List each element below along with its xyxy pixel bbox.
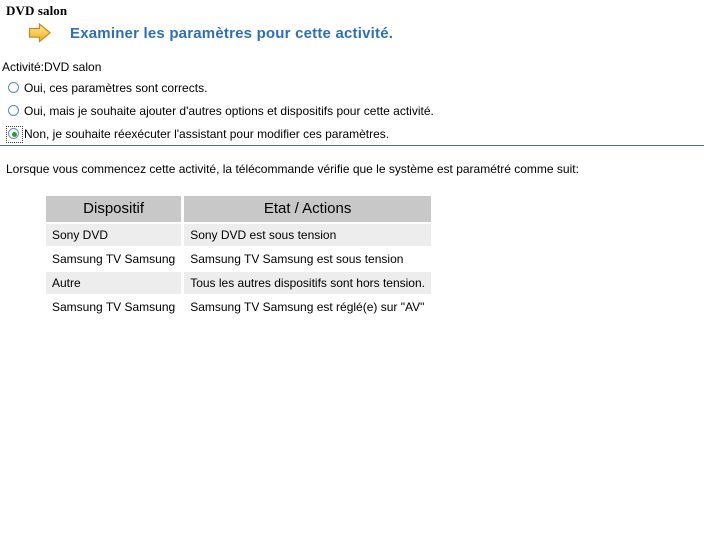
radio-icon[interactable] [8,105,21,118]
radio-option-label: Oui, mais je souhaite ajouter d'autres o… [24,105,434,118]
section-divider [0,145,704,146]
radio-circle [8,105,19,116]
cell-state: Samsung TV Samsung est sous tension [184,248,431,270]
cell-device: Sony DVD [46,224,181,246]
radio-icon[interactable] [8,128,21,141]
intro-text: Lorsque vous commencez cette activité, l… [6,162,579,176]
table-row: Samsung TV Samsung Samsung TV Samsung es… [46,296,431,318]
table-row: Sony DVD Sony DVD est sous tension [46,224,431,246]
radio-option-no-rerun-wizard[interactable]: Non, je souhaite réexécuter l'assistant … [8,124,668,145]
options-radio-group: Oui, ces paramètres sont corrects. Oui, … [8,78,668,147]
cell-device: Autre [46,272,181,294]
radio-circle [8,82,19,93]
cell-state: Samsung TV Samsung est réglé(e) sur "AV" [184,296,431,318]
configuration-table: Dispositif Etat / Actions Sony DVD Sony … [43,194,434,320]
radio-option-yes-correct[interactable]: Oui, ces paramètres sont corrects. [8,78,668,99]
table-row: Autre Tous les autres dispositifs sont h… [46,272,431,294]
page-title: DVD salon [6,3,67,19]
radio-option-label: Oui, ces paramètres sont corrects. [24,82,207,95]
table-row: Samsung TV Samsung Samsung TV Samsung es… [46,248,431,270]
radio-option-yes-add-more[interactable]: Oui, mais je souhaite ajouter d'autres o… [8,101,668,122]
cell-device: Samsung TV Samsung [46,248,181,270]
radio-option-label: Non, je souhaite réexécuter l'assistant … [24,128,389,141]
column-header-state-actions: Etat / Actions [184,196,431,222]
table-header-row: Dispositif Etat / Actions [46,196,431,222]
heading-row: Examiner les paramètres pour cette activ… [28,20,393,46]
cell-state: Tous les autres dispositifs sont hors te… [184,272,431,294]
cell-device: Samsung TV Samsung [46,296,181,318]
column-header-device: Dispositif [46,196,181,222]
right-arrow-icon [28,22,52,44]
radio-icon[interactable] [8,82,21,95]
radio-dot [12,132,17,137]
heading-text: Examiner les paramètres pour cette activ… [70,25,393,42]
activity-label: Activité:DVD salon [2,60,101,74]
cell-state: Sony DVD est sous tension [184,224,431,246]
